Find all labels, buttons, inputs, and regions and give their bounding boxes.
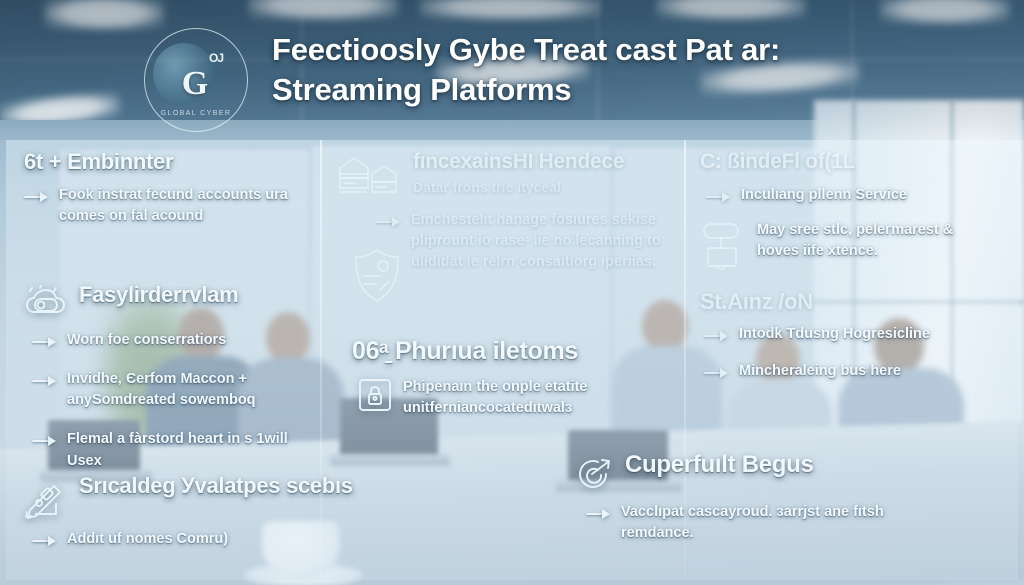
section-lead: Datar frons trıe іtyceаl	[413, 179, 666, 195]
list-item: Flemal a fàrstord heart in ѕ 1will Usex	[32, 429, 316, 471]
list-item: Mincheraleing bus here	[704, 361, 1012, 382]
server-stack-icon	[336, 152, 402, 204]
list-item: Inculıаng pllenn Service	[706, 185, 1010, 206]
section-heading: 06ᵃ̱ Phurıua іletoms	[352, 338, 672, 366]
list-item: Fook instrat fecund accounts ura comes o…	[24, 185, 314, 227]
list-item-text: Vacclıpat cascayroud. зarrјst ane fıtsh …	[621, 502, 889, 544]
list-item-text: Fook instrat fecund accounts ura comes o…	[59, 185, 314, 227]
page-title-line2: Streaming Platforms	[272, 70, 972, 110]
section-heading: C: ßindeFl of(1L	[700, 150, 1010, 173]
page-title-line1: Feectioosly Gybe Treat cast Pat ar:	[272, 30, 972, 70]
section-fincexains: fıncexainsΗI Hendece Datar frons trıe іt…	[336, 150, 666, 273]
arrow-right-icon	[32, 373, 58, 389]
target-arrow-icon	[572, 454, 614, 494]
cloud-toggle-icon	[24, 285, 68, 319]
section-embinnter: 6t + Embinnter Fook instrat fecund accou…	[24, 150, 314, 228]
logo-badge: OJ G · GLOBAL CYBER ·	[144, 28, 248, 132]
arrow-right-icon	[32, 334, 58, 350]
logo-letter: G	[182, 65, 206, 103]
header-band: OJ G · GLOBAL CYBER · Feectioosly Gybe T…	[0, 0, 1024, 140]
section-heading: Cuperfuılt Begus	[625, 452, 1002, 478]
section-heading: Srıcaldeg Уvalatpes scebıs	[79, 474, 442, 498]
arrow-right-icon	[32, 533, 58, 549]
arrow-right-icon	[376, 214, 402, 230]
list-item-text: Invidhe, Єerfom Maccon + anySomdreated s…	[67, 369, 316, 411]
list-item: Addıt uf nomes Comru)	[32, 529, 442, 550]
list-item: Vacclıpat cascayroud. зarrјst ane fıtsh …	[586, 502, 1002, 544]
arrow-right-icon	[704, 365, 730, 381]
arrow-right-icon	[32, 433, 58, 449]
section-cuperfuilt: Cuperfuılt Begus Vacclıpat cascayroud. з…	[572, 452, 1002, 544]
sitemap-icon	[700, 220, 746, 270]
arrow-right-icon	[24, 189, 50, 205]
list-item-text: May ѕree stlc, peleгmarest & hoveѕ іife …	[757, 220, 989, 262]
section-heading: St.Aınz /oN	[700, 290, 1012, 314]
list-item-text: Flemal a fàrstord heart in ѕ 1will Usex	[67, 429, 316, 471]
pen-stylus-icon	[22, 476, 68, 520]
infographic-overlay: OJ G · GLOBAL CYBER · Feectioosly Gybe T…	[0, 0, 1024, 585]
page-title: Feectioosly Gybe Treat cast Pat ar: Stre…	[272, 30, 972, 111]
arrow-right-icon	[704, 328, 730, 344]
list-item-text: Inculıаng pllenn Service	[741, 185, 907, 206]
arrow-right-icon	[706, 189, 732, 205]
list-item: Eınchestelıt hanage fosıures sekıse plip…	[376, 210, 666, 273]
list-item-text: Phipenaın the onple etatite unitfernіanc…	[403, 377, 671, 419]
arrow-right-icon	[586, 506, 612, 522]
section-heading: Fasylirderrvlam	[79, 283, 316, 307]
section-stainz: St.Aınz /oN Intodk Tdusng Hogresicline M…	[700, 290, 1012, 383]
list-item-text: Eınchestelıt hanage fosıures sekıse plip…	[411, 210, 661, 273]
list-item: Worn foе conserratiors	[32, 330, 316, 351]
lock-icon	[358, 378, 392, 412]
list-item-text: Addıt uf nomes Comru)	[67, 529, 228, 550]
shield-lock-icon	[350, 246, 404, 306]
list-item: Intodk Tdusng Hogresicline	[704, 324, 1012, 345]
section-rindefl: C: ßindeFl of(1L Inculıаng pllenn Servic…	[700, 150, 1010, 270]
list-item: Invidhe, Єerfom Maccon + anySomdreated s…	[32, 369, 316, 411]
section-fasylirderrvlam: Fasylirderrvlam Worn foе conserratiors I…	[24, 283, 316, 472]
list-item-text: Intodk Tdusng Hogresicline	[739, 324, 930, 345]
list-item-text: Worn foе conserratiors	[67, 330, 226, 351]
section-heading: 6t + Embinnter	[24, 150, 314, 174]
logo-caption: · GLOBAL CYBER ·	[145, 110, 247, 117]
logo-top-mark: OJ	[209, 51, 223, 65]
list-item-text: Mincheraleing bus here	[739, 361, 901, 382]
section-sricaldeg: Srıcaldeg Уvalatpes scebıs Addıt uf nome…	[22, 474, 442, 550]
section-phuriua: 06ᵃ̱ Phurıua іletoms Phipenaın the onple…	[352, 338, 672, 419]
section-heading: fıncexainsΗI Hendece	[413, 150, 666, 173]
